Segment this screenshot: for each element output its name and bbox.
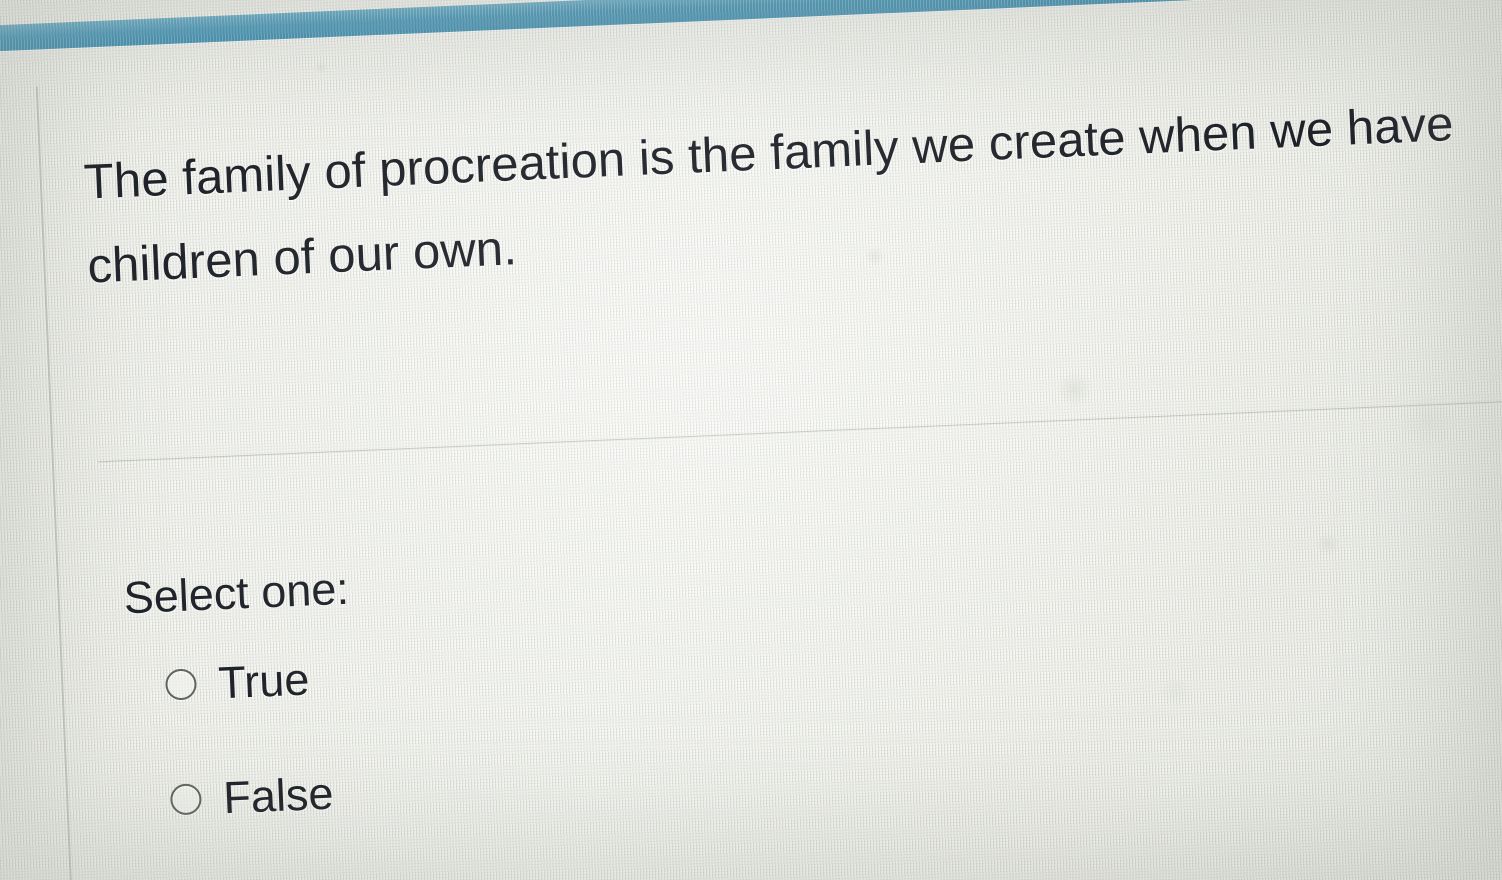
answer-block: Select one: True False [123,566,362,880]
answer-option-true[interactable]: True [165,655,354,708]
radio-unchecked-icon[interactable] [170,783,202,815]
screen-surface: The family of procreation is the family … [0,0,1502,880]
answer-label-false: False [222,771,334,821]
question-divider [98,401,1502,463]
question-card: The family of procreation is the family … [36,20,1502,880]
answer-label-true: True [217,656,310,705]
select-one-label: Select one: [123,566,350,621]
question-body: The family of procreation is the family … [82,80,1502,309]
radio-unchecked-icon[interactable] [165,668,197,700]
question-text: The family of procreation is the family … [82,80,1502,309]
answer-option-false[interactable]: False [169,770,358,823]
screenshot-root: The family of procreation is the family … [0,0,1502,880]
